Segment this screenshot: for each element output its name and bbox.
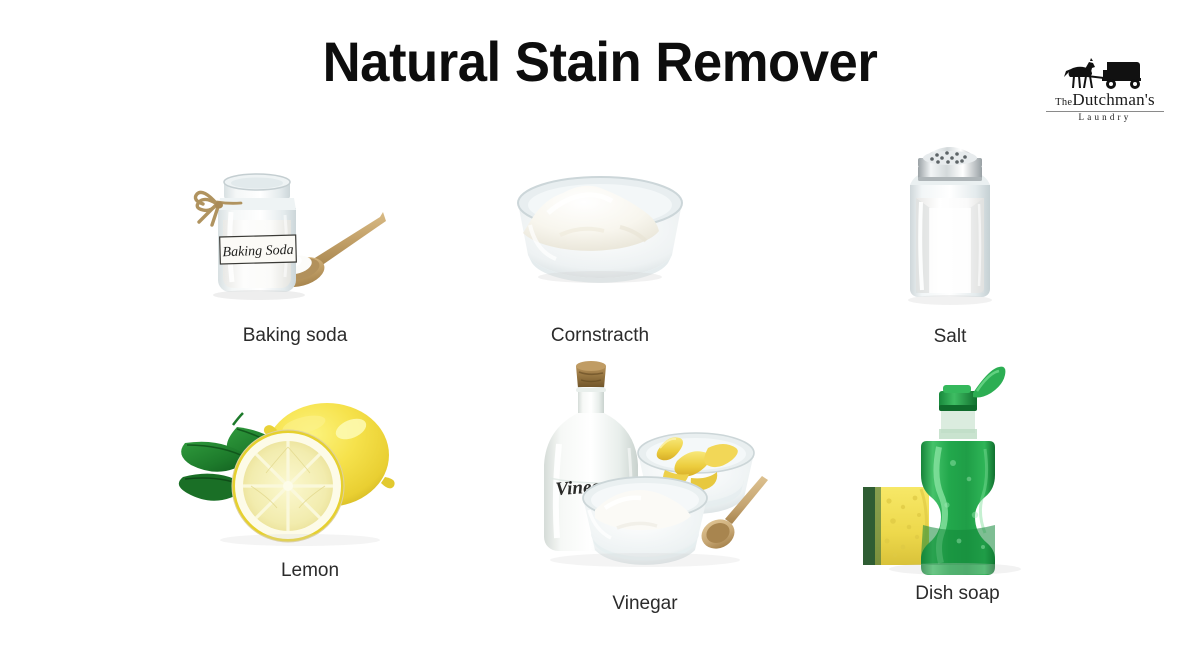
- brand-name-main: Dutchman's: [1072, 90, 1155, 109]
- ingredient-baking-soda: Baking Soda Baking soda: [145, 160, 445, 360]
- ingredient-dish-soap: Dish soap: [840, 355, 1075, 615]
- vinegar-bottle-illustration: Vinegar: [525, 358, 775, 593]
- ingredient-lemon: Lemon: [160, 385, 460, 600]
- horse-and-buggy-icon: [1057, 58, 1153, 90]
- brand-name-prefix: The: [1055, 97, 1072, 108]
- flip-cap-icon: [939, 367, 1005, 411]
- cornstarch-bowl-illustration: [500, 165, 700, 305]
- svg-text:Baking Soda: Baking Soda: [222, 243, 294, 260]
- brand-subtitle: Laundry: [1035, 113, 1175, 122]
- dish-soap-bottle-illustration: [855, 355, 1055, 580]
- baking-soda-jar-illustration: Baking Soda: [187, 160, 402, 310]
- brand-wordmark: TheDutchman's Laundry: [1035, 91, 1175, 122]
- halved-lemon-icon: [232, 430, 344, 542]
- ingredient-label: Baking soda: [145, 325, 445, 347]
- brand-logo: TheDutchman's Laundry: [1035, 58, 1175, 136]
- brand-name: TheDutchman's: [1035, 91, 1175, 109]
- ingredient-label: Salt: [830, 326, 1070, 348]
- lemon-illustration: [175, 385, 415, 550]
- page-title: Natural Stain Remover: [36, 30, 1164, 94]
- sponge-icon: [863, 487, 929, 565]
- ingredient-label: Lemon: [160, 560, 460, 582]
- jar-label: Baking Soda: [220, 235, 297, 264]
- ingredient-cornstarch: Cornstracth: [470, 160, 730, 360]
- ingredient-vinegar: Vinegar Vinegar: [505, 358, 785, 618]
- powder-bowl: [583, 477, 707, 565]
- salt-shaker-illustration: [885, 130, 1015, 315]
- ingredient-label: Cornstracth: [470, 325, 730, 347]
- poster-canvas: Natural Stain Remover: [0, 0, 1200, 657]
- ingredient-label: Dish soap: [840, 583, 1075, 605]
- ingredient-label: Vinegar: [505, 593, 785, 615]
- shaker-cap-icon: [918, 147, 982, 181]
- ingredient-salt: Salt: [830, 130, 1070, 360]
